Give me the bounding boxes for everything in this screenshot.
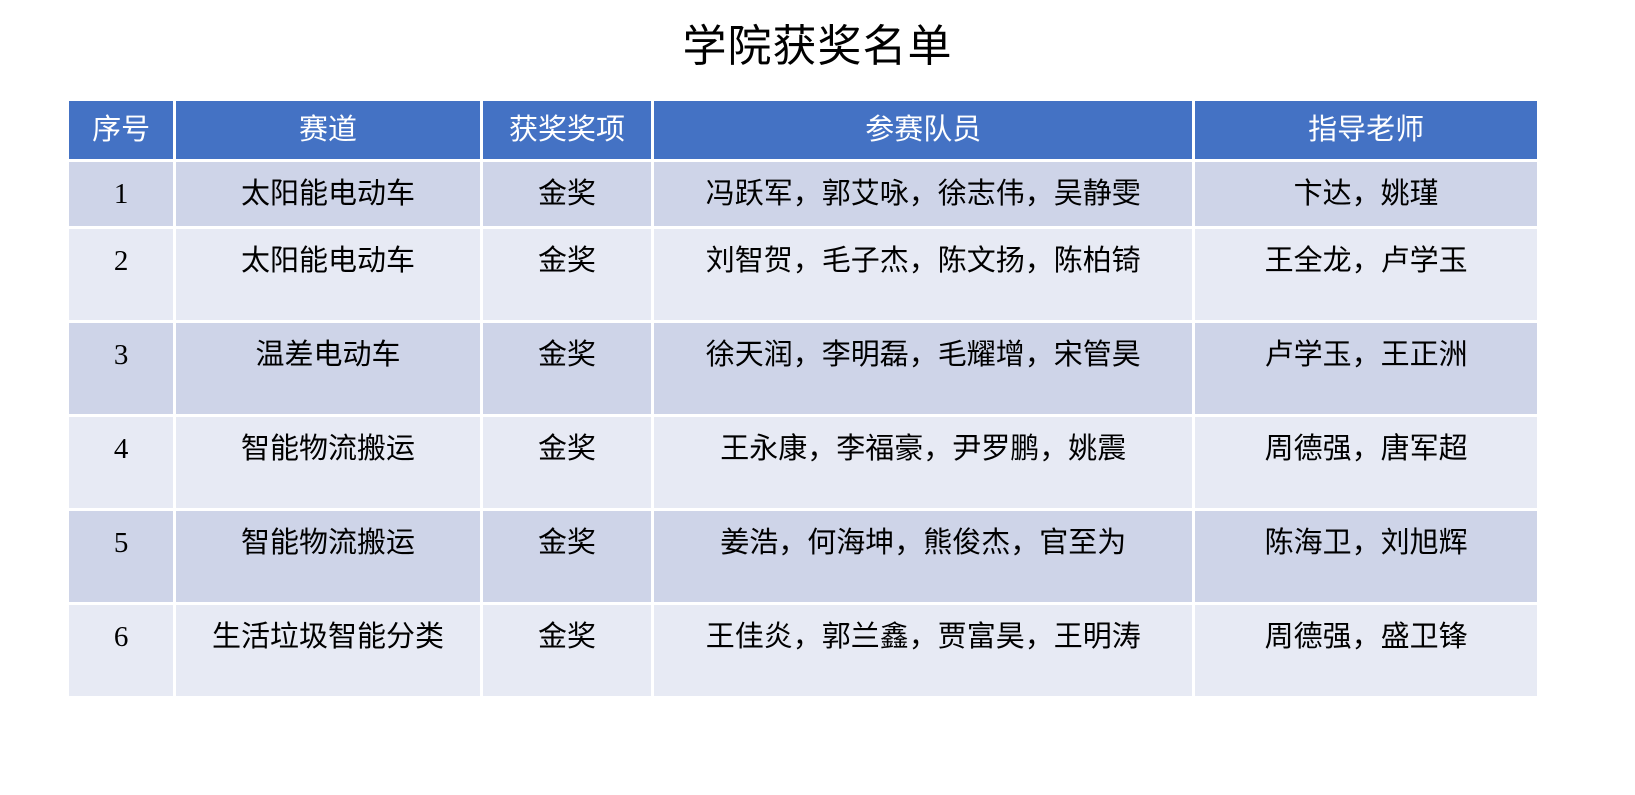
cell-members: 王永康，李福豪，尹罗鹏，姚震 [654,417,1192,508]
document-page: 学院获奖名单 序号 赛道 获奖奖项 参赛队员 指导老师 1 太阳能电动车 金奖 … [0,0,1635,795]
cell-award: 金奖 [483,229,651,320]
table-row: 6 生活垃圾智能分类 金奖 王佳炎，郭兰鑫，贾富昊，王明涛 周德强，盛卫锋 [69,605,1537,696]
cell-track: 太阳能电动车 [176,229,480,320]
cell-mentors: 卞达，姚瑾 [1195,162,1537,226]
table-row: 3 温差电动车 金奖 徐天润，李明磊，毛耀增，宋管昊 卢学玉，王正洲 [69,323,1537,414]
cell-track: 生活垃圾智能分类 [176,605,480,696]
column-header-track: 赛道 [176,101,480,159]
cell-index: 2 [69,229,173,320]
table-header: 序号 赛道 获奖奖项 参赛队员 指导老师 [69,101,1537,159]
table-row: 5 智能物流搬运 金奖 姜浩，何海坤，熊俊杰，官至为 陈海卫，刘旭辉 [69,511,1537,602]
column-header-mentors: 指导老师 [1195,101,1537,159]
column-header-award: 获奖奖项 [483,101,651,159]
table-row: 2 太阳能电动车 金奖 刘智贺，毛子杰，陈文扬，陈柏锜 王全龙，卢学玉 [69,229,1537,320]
cell-mentors: 卢学玉，王正洲 [1195,323,1537,414]
cell-members: 王佳炎，郭兰鑫，贾富昊，王明涛 [654,605,1192,696]
award-list-table: 序号 赛道 获奖奖项 参赛队员 指导老师 1 太阳能电动车 金奖 冯跃军，郭艾咏… [66,98,1540,699]
cell-mentors: 王全龙，卢学玉 [1195,229,1537,320]
cell-index: 1 [69,162,173,226]
cell-award: 金奖 [483,417,651,508]
cell-award: 金奖 [483,511,651,602]
cell-members: 徐天润，李明磊，毛耀增，宋管昊 [654,323,1192,414]
cell-award: 金奖 [483,605,651,696]
cell-track: 温差电动车 [176,323,480,414]
cell-track: 智能物流搬运 [176,417,480,508]
page-title: 学院获奖名单 [0,18,1635,76]
cell-index: 3 [69,323,173,414]
cell-mentors: 陈海卫，刘旭辉 [1195,511,1537,602]
cell-track: 智能物流搬运 [176,511,480,602]
table-row: 4 智能物流搬运 金奖 王永康，李福豪，尹罗鹏，姚震 周德强，唐军超 [69,417,1537,508]
cell-award: 金奖 [483,323,651,414]
column-header-index: 序号 [69,101,173,159]
cell-index: 4 [69,417,173,508]
column-header-members: 参赛队员 [654,101,1192,159]
cell-award: 金奖 [483,162,651,226]
cell-members: 刘智贺，毛子杰，陈文扬，陈柏锜 [654,229,1192,320]
cell-mentors: 周德强，盛卫锋 [1195,605,1537,696]
cell-members: 姜浩，何海坤，熊俊杰，官至为 [654,511,1192,602]
cell-index: 5 [69,511,173,602]
table-body: 1 太阳能电动车 金奖 冯跃军，郭艾咏，徐志伟，吴静雯 卞达，姚瑾 2 太阳能电… [69,162,1537,696]
cell-members: 冯跃军，郭艾咏，徐志伟，吴静雯 [654,162,1192,226]
table-row: 1 太阳能电动车 金奖 冯跃军，郭艾咏，徐志伟，吴静雯 卞达，姚瑾 [69,162,1537,226]
cell-track: 太阳能电动车 [176,162,480,226]
cell-index: 6 [69,605,173,696]
cell-mentors: 周德强，唐军超 [1195,417,1537,508]
table-header-row: 序号 赛道 获奖奖项 参赛队员 指导老师 [69,101,1537,159]
